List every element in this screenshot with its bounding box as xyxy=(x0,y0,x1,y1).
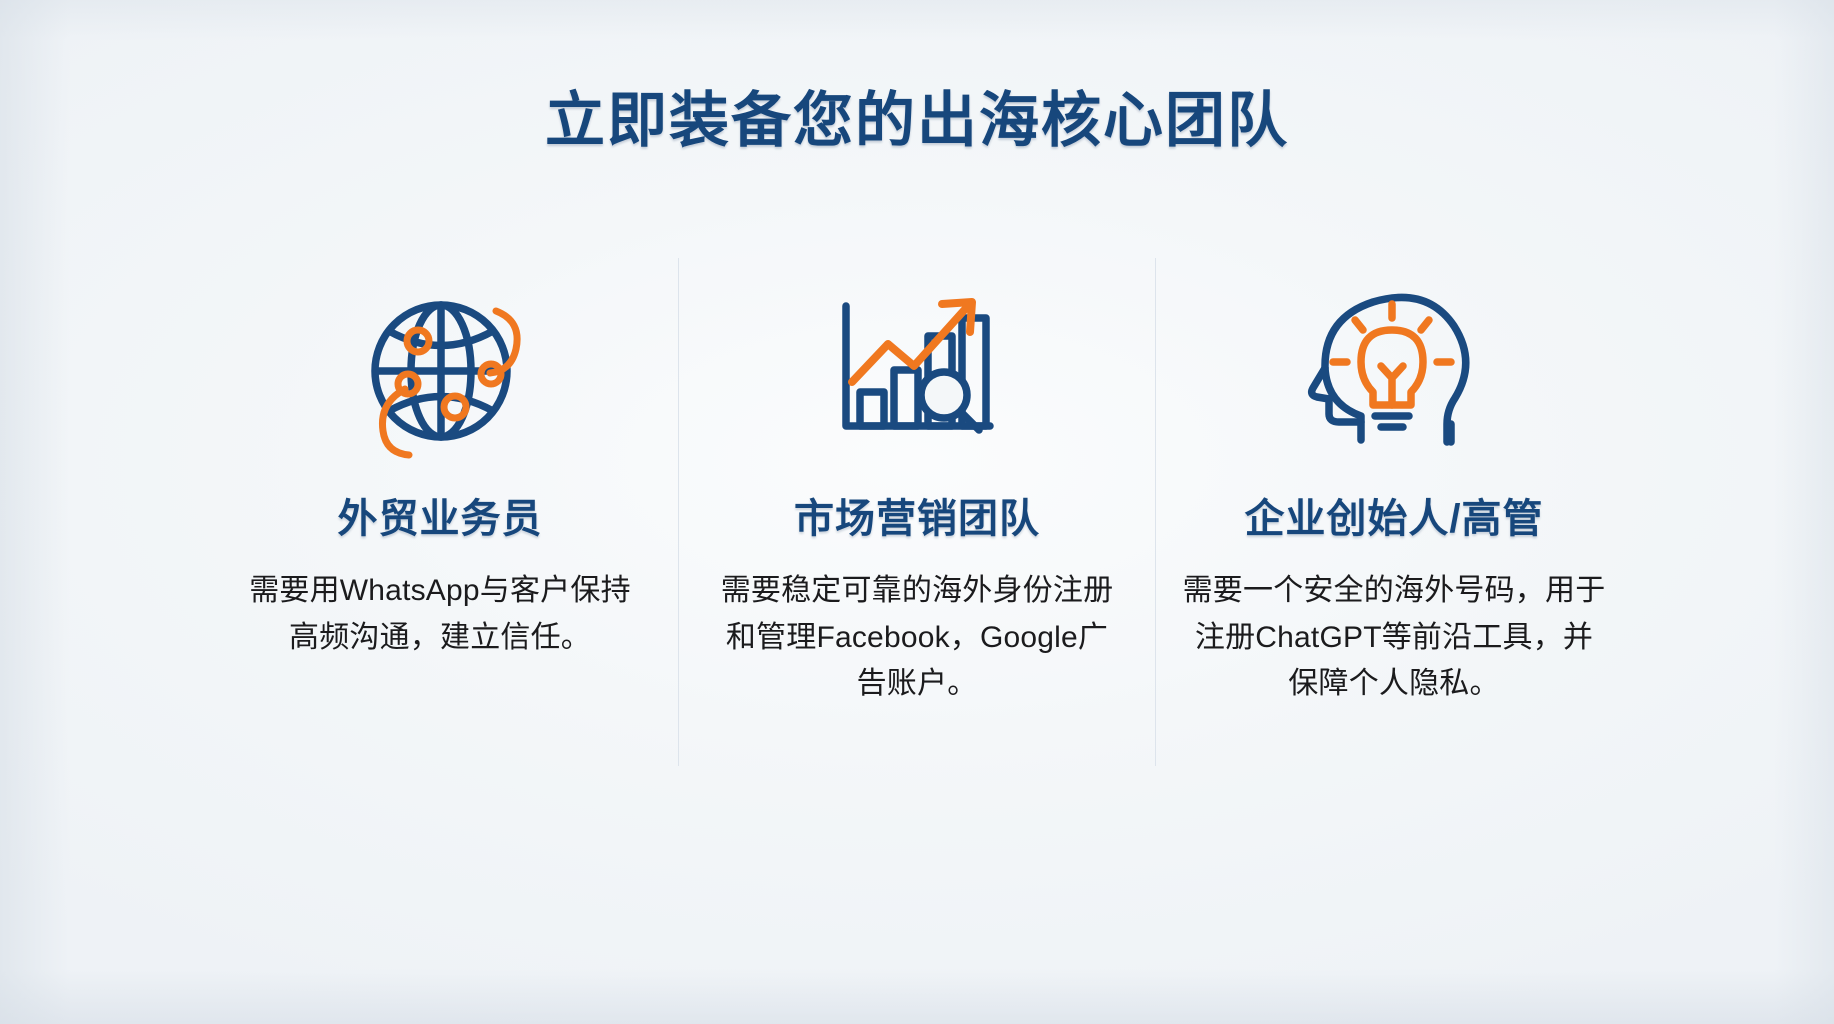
globe-network-icon xyxy=(345,264,535,474)
persona-card-marketing-team[interactable]: 市场营销团队 需要稳定可靠的海外身份注册和管理Facebook，Google广告… xyxy=(678,258,1155,766)
head-lightbulb-idea-icon xyxy=(1299,264,1489,474)
persona-card-title: 外贸业务员 xyxy=(338,496,543,542)
persona-card-list: 外贸业务员 需要用WhatsApp与客户保持高频沟通，建立信任。 xyxy=(202,258,1632,766)
page-title: 立即装备您的出海核心团队 xyxy=(0,88,1834,154)
persona-card-description: 需要一个安全的海外号码，用于注册ChatGPT等前沿工具，并保障个人隐私。 xyxy=(1182,568,1606,708)
growth-bar-chart-icon xyxy=(822,264,1012,474)
persona-card-foreign-trade-sales[interactable]: 外贸业务员 需要用WhatsApp与客户保持高频沟通，建立信任。 xyxy=(202,258,678,766)
persona-card-founder-executive[interactable]: 企业创始人/高管 需要一个安全的海外号码，用于注册ChatGPT等前沿工具，并保… xyxy=(1155,258,1632,766)
persona-card-title: 企业创始人/高管 xyxy=(1244,496,1543,542)
persona-card-title: 市场营销团队 xyxy=(794,496,1040,542)
persona-card-description: 需要稳定可靠的海外身份注册和管理Facebook，Google广告账户。 xyxy=(717,568,1117,708)
persona-card-description: 需要用WhatsApp与客户保持高频沟通，建立信任。 xyxy=(240,568,640,661)
